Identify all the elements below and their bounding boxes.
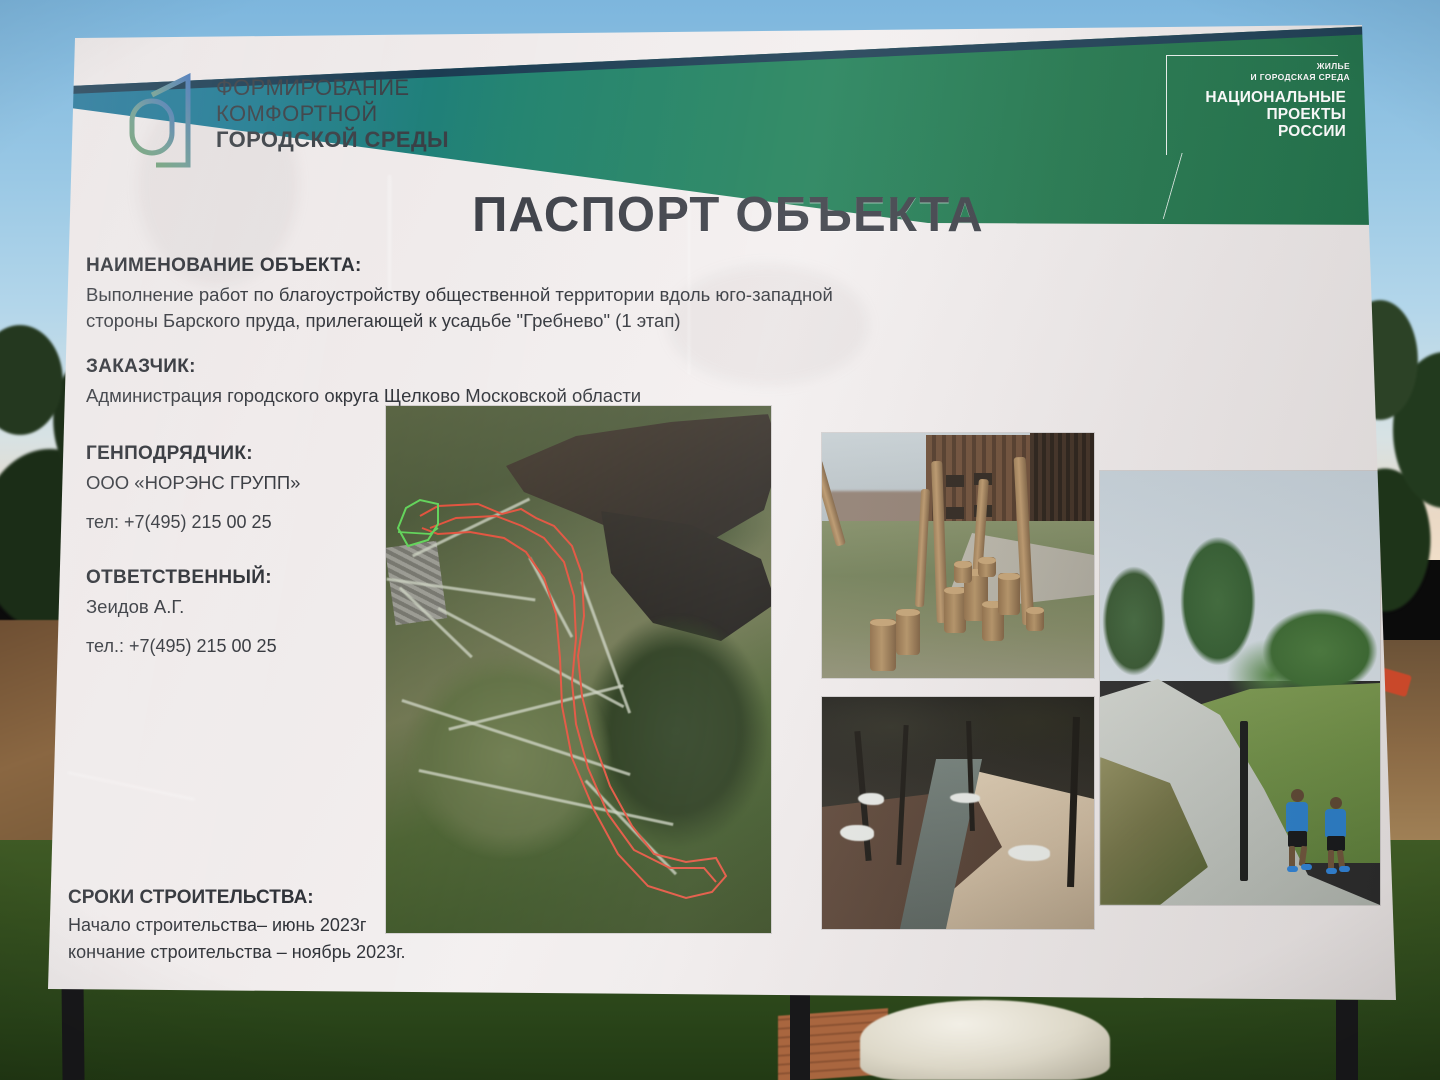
photo-scene: ЖИЛЬЕ И ГОРОДСКАЯ СРЕДА НАЦИОНАЛЬНЫЕ ПРО… [0, 0, 1440, 1080]
runner-front [1282, 789, 1312, 873]
page-title: ПАСПОРТ ОБЪЕКТА [378, 187, 1078, 243]
contractor-body: ООО «НОРЭНС ГРУПП» [86, 470, 416, 496]
photo-paved-path-trees [822, 697, 1094, 929]
customer-heading: ЗАКАЗЧИК: [86, 356, 886, 378]
section-responsible: ОТВЕТСТВЕННЫЙ: Зеидов А.Г. тел.: +7(495)… [86, 567, 416, 657]
section-object-name: НАИМЕНОВАНИЕ ОБЪЕКТА: Выполнение работ п… [86, 255, 886, 334]
section-customer: ЗАКАЗЧИК: Администрация городского округ… [86, 356, 886, 409]
comfortable-urban-environment-logo-icon [126, 73, 204, 173]
photo-joggers-park-path [1100, 471, 1380, 905]
emblem-title-line3: РОССИИ [1182, 123, 1346, 140]
program-name-line2: КОМФОРТНОЙ [216, 101, 636, 127]
map-boundary-overlay [386, 406, 771, 933]
section-contractor: ГЕНПОДРЯДЧИК: ООО «НОРЭНС ГРУПП» тел: +7… [86, 443, 416, 533]
emblem-title-line2: ПРОЕКТЫ [1182, 106, 1346, 123]
contractor-heading: ГЕНПОДРЯДЧИК: [86, 443, 416, 465]
white-sack [860, 1000, 1110, 1080]
information-billboard: ЖИЛЬЕ И ГОРОДСКАЯ СРЕДА НАЦИОНАЛЬНЫЕ ПРО… [0, 0, 1440, 1080]
program-name: ФОРМИРОВАНИЕ КОМФОРТНОЙ ГОРОДСКОЙ СРЕДЫ [216, 75, 636, 153]
responsible-heading: ОТВЕТСТВЕННЫЙ: [86, 567, 416, 589]
path-bollard [1240, 721, 1248, 881]
sign-post-middle [790, 995, 810, 1080]
emblem-subtitle-line2: И ГОРОДСКАЯ СРЕДА [1190, 72, 1350, 83]
terms-line2: кончание строительства – ноябрь 2023г. [68, 939, 498, 966]
emblem-subtitle-line1: ЖИЛЬЕ [1190, 61, 1350, 72]
billboard-face: ЖИЛЬЕ И ГОРОДСКАЯ СРЕДА НАЦИОНАЛЬНЫЕ ПРО… [48, 25, 1396, 1000]
responsible-body: Зеидов А.Г. [86, 594, 416, 620]
contractor-phone: тел: +7(495) 215 00 25 [86, 512, 416, 533]
sign-post-left [61, 978, 84, 1080]
object-name-line2: стороны Барского пруда, прилегающей к ус… [86, 308, 886, 334]
photo-log-posts-playground [822, 433, 1094, 678]
satellite-site-plan-image [386, 406, 771, 933]
emblem-subtitle: ЖИЛЬЕ И ГОРОДСКАЯ СРЕДА [1190, 61, 1350, 83]
object-name-line1: Выполнение работ по благоустройству обще… [86, 282, 886, 308]
program-name-line3: ГОРОДСКОЙ СРЕДЫ [216, 127, 636, 153]
responsible-phone: тел.: +7(495) 215 00 25 [86, 636, 416, 657]
object-name-heading: НАИМЕНОВАНИЕ ОБЪЕКТА: [86, 255, 886, 277]
emblem-title-line1: НАЦИОНАЛЬНЫЕ [1182, 89, 1346, 106]
emblem-title: НАЦИОНАЛЬНЫЕ ПРОЕКТЫ РОССИИ [1182, 89, 1346, 140]
national-projects-emblem: ЖИЛЬЕ И ГОРОДСКАЯ СРЕДА НАЦИОНАЛЬНЫЕ ПРО… [1166, 45, 1356, 173]
runner-back [1322, 797, 1350, 875]
sign-post-right [1336, 1000, 1358, 1080]
program-name-line1: ФОРМИРОВАНИЕ [216, 75, 636, 101]
